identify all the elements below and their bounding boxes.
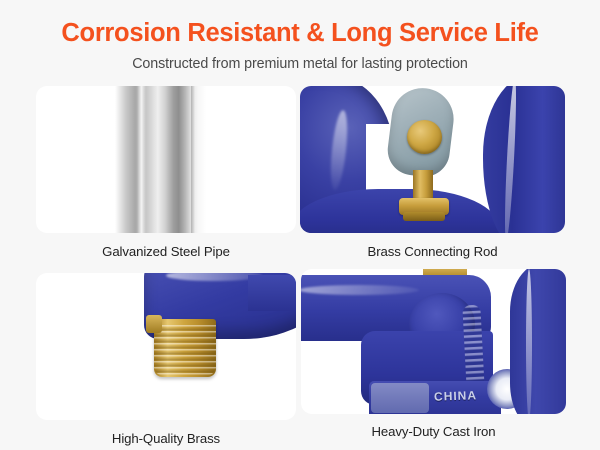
feature-caption: Galvanized Steel Pipe xyxy=(36,233,296,259)
steel-pipe-edge-shadow xyxy=(191,86,195,233)
page-subtitle: Constructed from premium metal for lasti… xyxy=(0,56,600,72)
blue-spout-arm xyxy=(248,275,296,311)
page-title: Corrosion Resistant & Long Service Life xyxy=(0,18,600,49)
feature-caption: Heavy-Duty Cast Iron xyxy=(301,414,566,439)
feature-cell-galvanized-steel-pipe: Galvanized Steel Pipe xyxy=(36,86,301,259)
feature-cell-brass-connecting-rod: Brass Connecting Rod xyxy=(300,86,566,259)
feature-image-card xyxy=(300,86,565,233)
steel-pipe-highlight xyxy=(137,86,146,233)
feature-grid: Galvanized Steel Pipe Brass Connecting R… xyxy=(36,86,565,446)
embossed-origin-mark: CHINA xyxy=(434,388,477,403)
feature-image-card xyxy=(36,273,296,420)
feature-caption: Brass Connecting Rod xyxy=(300,233,565,259)
brass-pivot-nut xyxy=(407,120,442,154)
brass-thread-grooves xyxy=(154,325,216,375)
brass-flange-lower xyxy=(403,212,445,221)
cast-iron-right-column xyxy=(510,269,566,414)
galvanized-steel-pipe-photo xyxy=(36,86,296,233)
header: Corrosion Resistant & Long Service Life … xyxy=(0,0,600,72)
feature-cell-heavy-duty-cast-iron: CHINA Heavy-Duty Cast Iron xyxy=(301,273,566,446)
brass-outlet-tab xyxy=(146,315,162,333)
feature-cell-high-quality-brass: High-Quality Brass xyxy=(36,273,301,446)
feature-image-card xyxy=(36,86,296,233)
feature-image-card: CHINA xyxy=(301,269,566,414)
high-quality-brass-outlet-photo xyxy=(36,273,296,420)
heavy-duty-cast-iron-photo: CHINA xyxy=(301,269,566,414)
feature-graphic: Corrosion Resistant & Long Service Life … xyxy=(0,0,600,450)
brass-connecting-rod-photo xyxy=(300,86,565,233)
cast-iron-mounting-pad xyxy=(371,383,429,413)
feature-caption: High-Quality Brass xyxy=(36,420,296,446)
cast-iron-body-right xyxy=(483,86,565,233)
